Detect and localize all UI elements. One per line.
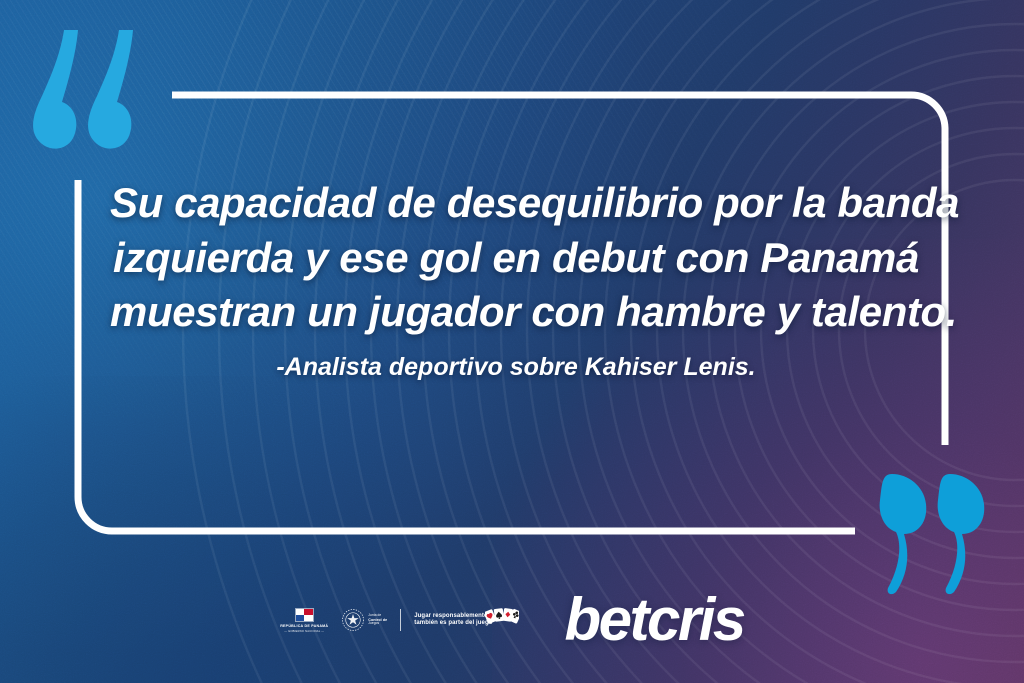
panama-government-logo: REPÚBLICA DE PANAMÁ — GOBIERNO NACIONAL … [280, 608, 328, 633]
regulatory-logos-group: REPÚBLICA DE PANAMÁ — GOBIERNO NACIONAL … [280, 604, 518, 636]
panama-subtitle: — GOBIERNO NACIONAL — [284, 630, 324, 633]
responsible-gaming-notice: Jugar responsablemente también es parte … [414, 604, 518, 636]
responsible-gaming-text: Jugar responsablemente también es parte … [414, 613, 492, 628]
panama-title: REPÚBLICA DE PANAMÁ [280, 624, 328, 628]
betcris-logo: betcris [565, 590, 744, 650]
quote-attribution: -Analista deportivo sobre Kahiser Lenis. [110, 352, 922, 382]
footer-bar: REPÚBLICA DE PANAMÁ — GOBIERNO NACIONAL … [0, 589, 1024, 651]
junta-line-3: Juegos [368, 622, 387, 626]
playing-cards-icon [485, 604, 519, 630]
junta-control-juegos-logo: Junta de Control de Juegos [341, 608, 387, 632]
quote-graphic-canvas: Su capacidad de desequilibrio por la ban… [0, 0, 1024, 683]
quote-text-block: Su capacidad de desequilibrio por la ban… [110, 176, 922, 382]
footer-divider [400, 609, 401, 631]
responsible-line-1: Jugar responsablemente [414, 613, 492, 621]
quote-line-3: muestran un jugador con hambre y talento… [110, 285, 922, 340]
junta-seal-icon [341, 608, 365, 632]
responsible-line-2: también es parte del juego [414, 620, 492, 628]
opening-quote-icon [22, 26, 140, 154]
quote-line-1: Su capacidad de desequilibrio por la ban… [110, 176, 922, 231]
junta-text: Junta de Control de Juegos [368, 614, 387, 625]
panama-flag-icon [295, 608, 314, 622]
quote-line-2: izquierda y ese gol en debut con Panamá [110, 231, 922, 286]
closing-quote-icon [878, 470, 996, 598]
